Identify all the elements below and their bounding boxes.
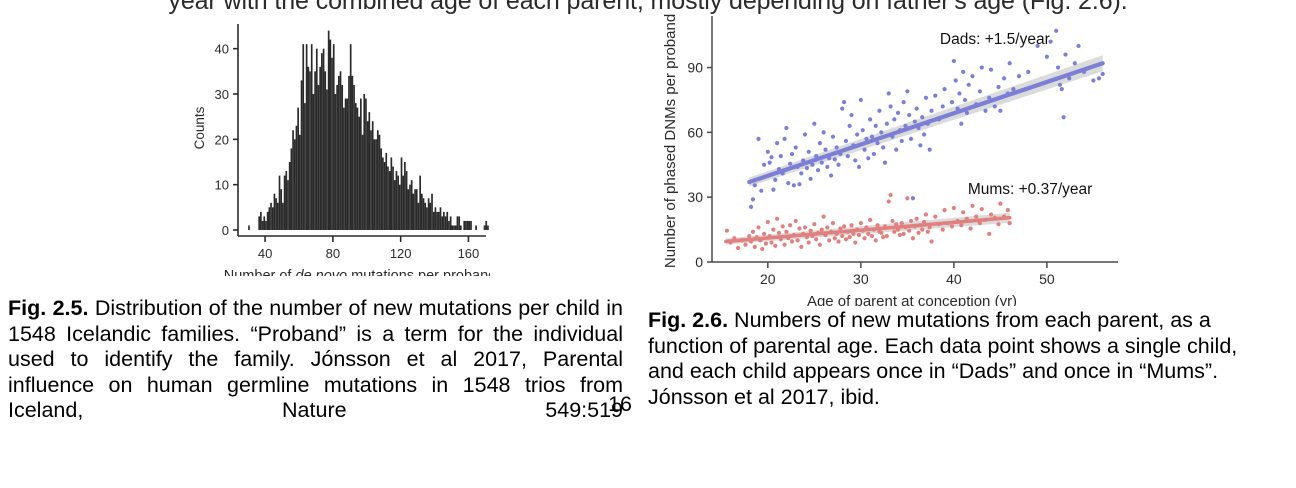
x-tick-label: 30 [853,271,869,287]
data-point [818,243,822,247]
data-point [987,232,991,236]
data-point [905,89,909,93]
data-point [913,119,917,123]
data-point [902,100,906,104]
data-point [900,221,904,225]
data-point [898,233,902,237]
data-point [961,70,965,74]
data-point [881,235,885,239]
data-point [797,182,801,186]
data-point [929,109,933,113]
data-point [823,148,827,152]
data-point [779,154,783,158]
data-point [792,183,796,187]
data-point [812,122,816,126]
data-point [773,178,777,182]
x-tick-label: 40 [258,246,272,261]
data-point [747,234,751,238]
page-number: 16 [592,392,632,417]
data-point [771,188,775,192]
data-point [959,223,963,227]
data-point [875,223,879,227]
data-point [872,152,876,156]
y-tick-label: 90 [687,60,703,76]
data-point [933,94,937,98]
data-point [753,183,757,187]
data-point [1091,78,1095,82]
data-point [989,212,993,216]
data-point [920,115,924,119]
data-point [922,132,926,136]
data-point [969,226,973,230]
x-axis-title: Number of de novo mutations per proband [224,268,490,276]
data-point [907,113,911,117]
data-point [900,139,904,143]
data-point [924,212,928,216]
data-point [803,225,807,229]
data-point [753,245,757,249]
data-point [1045,55,1049,59]
data-point [870,234,874,238]
y-tick-label: 60 [687,124,703,140]
data-point [998,202,1002,206]
data-point [905,196,909,200]
x-tick-label: 20 [760,271,776,287]
y-tick-label: 10 [215,178,229,193]
data-point [887,199,891,203]
data-point [842,100,846,104]
data-point [842,224,846,228]
data-point [874,238,878,242]
data-point [853,158,857,162]
data-point [896,111,900,115]
data-point [766,150,770,154]
data-point [859,98,863,102]
data-point [782,137,786,141]
histogram-chart: 0102030404080120160CountsNumber of de no… [190,18,490,276]
data-point [844,139,848,143]
data-point [855,132,859,136]
data-point [894,148,898,152]
data-point [799,245,803,249]
data-point [989,68,993,72]
data-point [942,208,946,212]
data-point [836,239,840,243]
y-tick-label: 30 [215,87,229,102]
y-tick-label: 40 [215,42,229,57]
data-point [889,104,893,108]
data-point [1008,61,1012,65]
data-point [978,89,982,93]
data-point [887,91,891,95]
x-tick-label: 50 [1039,271,1055,287]
data-point [970,74,974,78]
data-point [907,229,911,233]
data-point [933,215,937,219]
data-point [1060,87,1064,91]
data-point [1073,61,1077,65]
data-point [807,150,811,154]
figure-2-6: 030609020304050Number of phased DNMs per… [660,14,1120,306]
data-point [859,221,863,225]
data-point [861,128,865,132]
data-point [797,226,801,230]
data-point [844,237,848,241]
x-axis-title: Age of parent at conception (yr) [807,293,1017,306]
scatter-chart: 030609020304050Number of phased DNMs per… [660,14,1120,306]
data-point [954,78,958,82]
data-point [825,225,829,229]
data-point [928,148,932,152]
data-point [915,217,919,221]
data-point [909,219,913,223]
data-point [875,141,879,145]
data-point [911,236,915,240]
data-point [862,148,866,152]
data-point [835,145,839,149]
figure-2-5-caption: Fig. 2.5. Distribution of the number of … [8,296,623,424]
data-point [751,230,755,234]
data-point [998,109,1002,113]
data-point [1062,115,1066,119]
data-point [812,222,816,226]
data-point [762,163,766,167]
data-point [825,165,829,169]
data-point [857,165,861,169]
data-point [809,177,813,181]
data-point [833,236,837,240]
data-point [1026,70,1030,74]
data-point [786,181,790,185]
data-point [1017,74,1021,78]
data-point [967,83,971,87]
y-tick-label: 20 [215,132,229,147]
data-point [848,124,852,128]
data-point [980,65,984,69]
data-point [760,247,764,251]
data-point [941,227,945,231]
data-point [970,204,974,208]
data-point [820,227,824,231]
data-point [820,161,824,165]
series-mums [725,193,1012,251]
data-point [818,141,822,145]
data-point [889,193,893,197]
data-point [853,240,857,244]
y-tick-label: 0 [695,254,703,270]
data-point [782,243,786,247]
data-point [799,171,803,175]
figure-2-5: 0102030404080120160CountsNumber of de no… [190,18,490,276]
data-point [784,126,788,130]
data-point [725,229,729,233]
data-point [762,232,766,236]
data-point [836,163,840,167]
data-point [1076,44,1080,48]
data-point [784,230,788,234]
data-point [974,215,978,219]
data-point [890,219,894,223]
figure-2-6-caption: Fig. 2.6. Numbers of new mutations from … [648,308,1248,410]
figure-2-6-label: Fig. 2.6. [648,308,728,332]
data-point [794,145,798,149]
data-point [983,109,987,113]
histogram-bars [248,31,490,230]
data-point [1006,208,1010,212]
data-point [996,222,1000,226]
data-point [756,137,760,141]
x-tick-label: 120 [390,246,412,261]
data-point [909,137,913,141]
data-point [929,239,933,243]
data-point [1056,65,1060,69]
data-point [918,143,922,147]
data-point [795,238,799,242]
data-point [952,59,956,63]
data-point [892,230,896,234]
x-tick-label: 40 [946,271,962,287]
data-point [911,196,915,200]
y-tick-label: 0 [222,223,229,238]
data-point [993,104,997,108]
data-point [790,239,794,243]
data-point [980,207,984,211]
data-point [816,168,820,172]
data-point [751,197,755,201]
data-point [879,130,883,134]
data-point [885,122,889,126]
data-point [1097,76,1101,80]
data-point [814,237,818,241]
data-point [926,230,930,234]
data-point [840,234,844,238]
data-point [788,162,792,166]
data-point [833,157,837,161]
regression-line [749,63,1102,182]
data-point [868,117,872,121]
data-point [996,85,1000,89]
figure-2-5-caption-text: Distribution of the number of new mutati… [8,296,623,422]
data-point [959,122,963,126]
data-point [885,234,889,238]
data-point [868,218,872,222]
data-point [857,233,861,237]
data-point [892,117,896,121]
data-point [1101,72,1105,76]
annotation-mums: Mums: +0.37/year [968,181,1092,198]
data-point [924,96,928,100]
x-tick-label: 160 [458,246,480,261]
data-point [777,231,781,235]
data-point [756,225,760,229]
data-point [920,227,924,231]
data-point [866,156,870,160]
data-point [915,106,919,110]
data-point [743,243,747,247]
data-point [942,87,946,91]
data-point [902,232,906,236]
data-point [1008,221,1012,225]
data-point [788,223,792,227]
data-point [768,161,772,165]
data-point [916,231,920,235]
figure-2-6-caption-text: Numbers of new mutations from each paren… [648,308,1237,409]
x-tick-label: 80 [326,246,340,261]
data-point [881,145,885,149]
y-axis-title: Counts [192,106,207,149]
data-point [874,124,878,128]
data-point [773,244,777,248]
data-point [1054,29,1058,33]
data-point [794,219,798,223]
data-point [775,217,779,221]
data-point [879,231,883,235]
data-point [941,104,945,108]
data-point [950,224,954,228]
data-point [829,173,833,177]
data-point [957,91,961,95]
data-point [1002,76,1006,80]
data-point [827,238,831,242]
data-point [769,155,773,159]
data-point [877,109,881,113]
data-point [866,232,870,236]
data-point [1063,52,1067,56]
data-point [775,141,779,145]
data-point [822,130,826,134]
data-point [809,229,813,233]
data-point [849,113,853,117]
data-point [846,154,850,158]
data-point [736,246,740,250]
data-point [950,100,954,104]
annotation-dads: Dads: +1.5/year [940,31,1050,48]
data-point [805,166,809,170]
data-point [831,135,835,139]
data-point [952,206,956,210]
data-point [840,106,844,110]
figure-2-5-label: Fig. 2.5. [8,296,88,320]
data-point [764,242,768,246]
data-point [848,235,852,239]
data-point [766,220,770,224]
data-point [769,240,773,244]
data-point [961,210,965,214]
y-tick-label: 30 [687,189,703,205]
data-point [831,221,835,225]
data-point [759,189,763,193]
y-axis-title: Number of phased DNMs per proband [662,14,679,268]
data-point [781,224,785,228]
data-point [822,215,826,219]
data-point [749,205,753,209]
data-point [803,132,807,136]
data-point [807,240,811,244]
data-point [790,152,794,156]
data-point [862,236,866,240]
data-point [849,223,853,227]
data-point [963,98,967,102]
data-point [883,161,887,165]
data-point [771,227,775,231]
data-point [1058,83,1062,87]
